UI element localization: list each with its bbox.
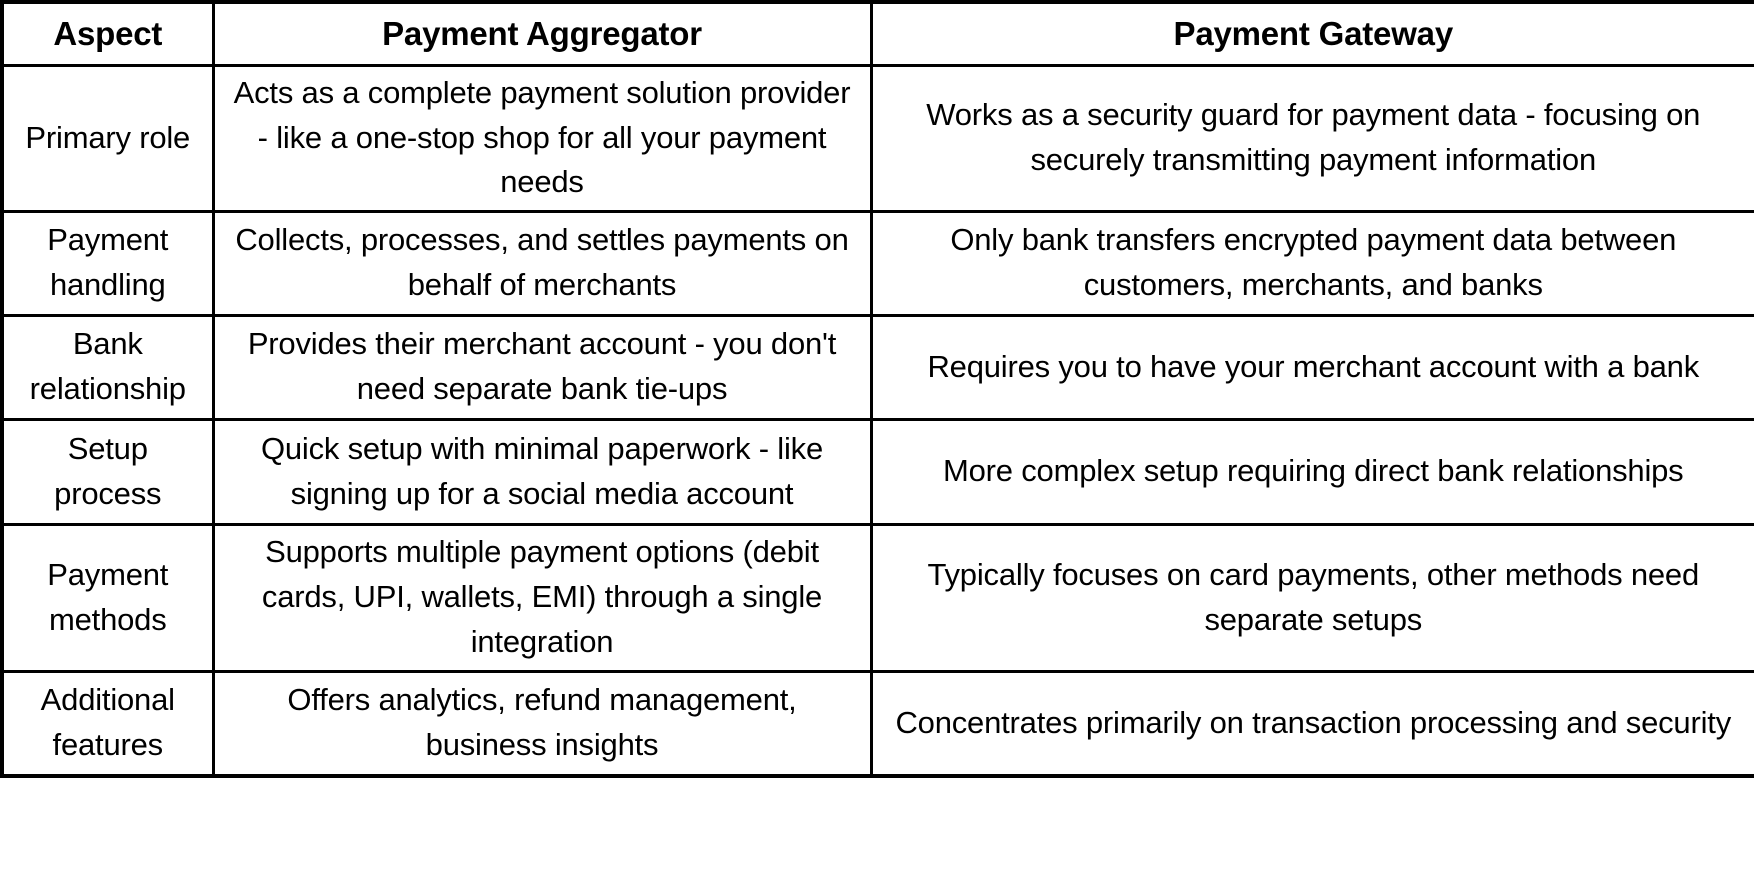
cell-payment-aggregator: Offers analytics, refund management, bus… <box>213 671 871 776</box>
cell-aspect: Additional features <box>2 671 213 776</box>
cell-payment-gateway: Only bank transfers encrypted payment da… <box>871 211 1754 315</box>
table-row: Additional features Offers analytics, re… <box>2 671 1754 776</box>
payment-comparison-table: Aspect Payment Aggregator Payment Gatewa… <box>0 0 1754 778</box>
cell-payment-gateway: Typically focuses on card payments, othe… <box>871 524 1754 671</box>
cell-payment-gateway: Concentrates primarily on transaction pr… <box>871 671 1754 776</box>
table-row: Payment handling Collects, processes, an… <box>2 211 1754 315</box>
table-header-row: Aspect Payment Aggregator Payment Gatewa… <box>2 2 1754 65</box>
cell-aspect: Primary role <box>2 65 213 211</box>
cell-payment-aggregator: Provides their merchant account - you do… <box>213 315 871 419</box>
column-header-payment-gateway: Payment Gateway <box>871 2 1754 65</box>
table-body: Primary role Acts as a complete payment … <box>2 65 1754 776</box>
cell-payment-gateway: More complex setup requiring direct bank… <box>871 419 1754 524</box>
cell-payment-aggregator: Supports multiple payment options (debit… <box>213 524 871 671</box>
cell-aspect: Payment handling <box>2 211 213 315</box>
column-header-aspect: Aspect <box>2 2 213 65</box>
cell-aspect: Payment methods <box>2 524 213 671</box>
table-row: Payment methods Supports multiple paymen… <box>2 524 1754 671</box>
comparison-table-container: Aspect Payment Aggregator Payment Gatewa… <box>0 0 1754 886</box>
cell-payment-aggregator: Collects, processes, and settles payment… <box>213 211 871 315</box>
cell-aspect: Setup process <box>2 419 213 524</box>
table-header: Aspect Payment Aggregator Payment Gatewa… <box>2 2 1754 65</box>
cell-payment-aggregator: Quick setup with minimal paperwork - lik… <box>213 419 871 524</box>
table-row: Primary role Acts as a complete payment … <box>2 65 1754 211</box>
cell-payment-gateway: Requires you to have your merchant accou… <box>871 315 1754 419</box>
cell-aspect: Bank relationship <box>2 315 213 419</box>
cell-payment-aggregator: Acts as a complete payment solution prov… <box>213 65 871 211</box>
column-header-payment-aggregator: Payment Aggregator <box>213 2 871 65</box>
cell-payment-gateway: Works as a security guard for payment da… <box>871 65 1754 211</box>
table-row: Bank relationship Provides their merchan… <box>2 315 1754 419</box>
table-row: Setup process Quick setup with minimal p… <box>2 419 1754 524</box>
